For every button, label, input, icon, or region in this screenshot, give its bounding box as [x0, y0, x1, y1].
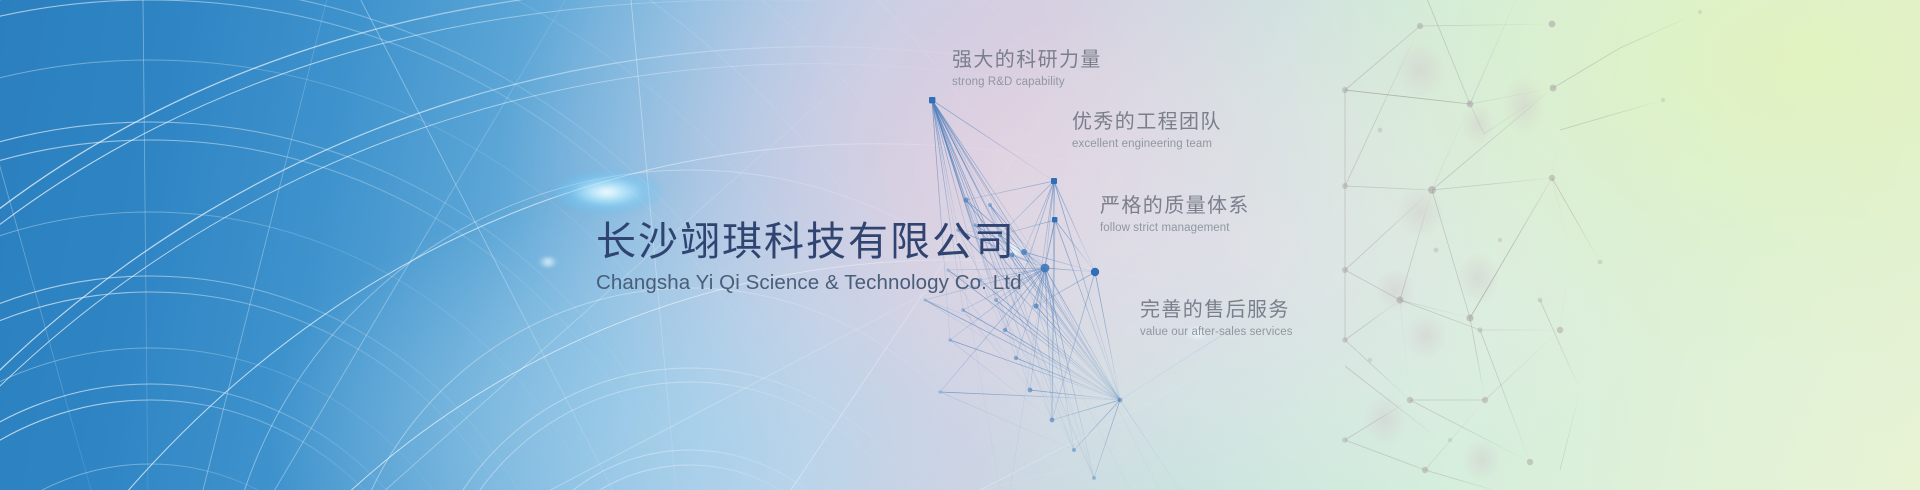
- hero-banner: 长沙翊琪科技有限公司 Changsha Yi Qi Science & Tech…: [0, 0, 1920, 490]
- feature-label-en-1: strong R&D capability: [952, 76, 1102, 88]
- feature-item-service: 完善的售后服务 value our after-sales services: [1140, 298, 1293, 338]
- feature-label-en-2: excellent engineering team: [1072, 138, 1222, 150]
- feature-label-en-3: follow strict management: [1100, 222, 1250, 234]
- company-title-block: 长沙翊琪科技有限公司 Changsha Yi Qi Science & Tech…: [596, 218, 1016, 295]
- feature-label-cn-3: 严格的质量体系: [1100, 194, 1250, 219]
- feature-item-rd: 强大的科研力量 strong R&D capability: [952, 48, 1102, 88]
- feature-label-cn-2: 优秀的工程团队: [1072, 110, 1222, 135]
- feature-label-cn-1: 强大的科研力量: [952, 48, 1102, 73]
- feature-label-en-4: value our after-sales services: [1140, 326, 1293, 338]
- feature-item-quality: 严格的质量体系 follow strict management: [1100, 194, 1250, 234]
- company-name-en: Changsha Yi Qi Science & Technology Co. …: [596, 271, 1016, 295]
- feature-label-cn-4: 完善的售后服务: [1140, 298, 1293, 323]
- company-name-cn: 长沙翊琪科技有限公司: [596, 218, 1016, 265]
- feature-item-team: 优秀的工程团队 excellent engineering team: [1072, 110, 1222, 150]
